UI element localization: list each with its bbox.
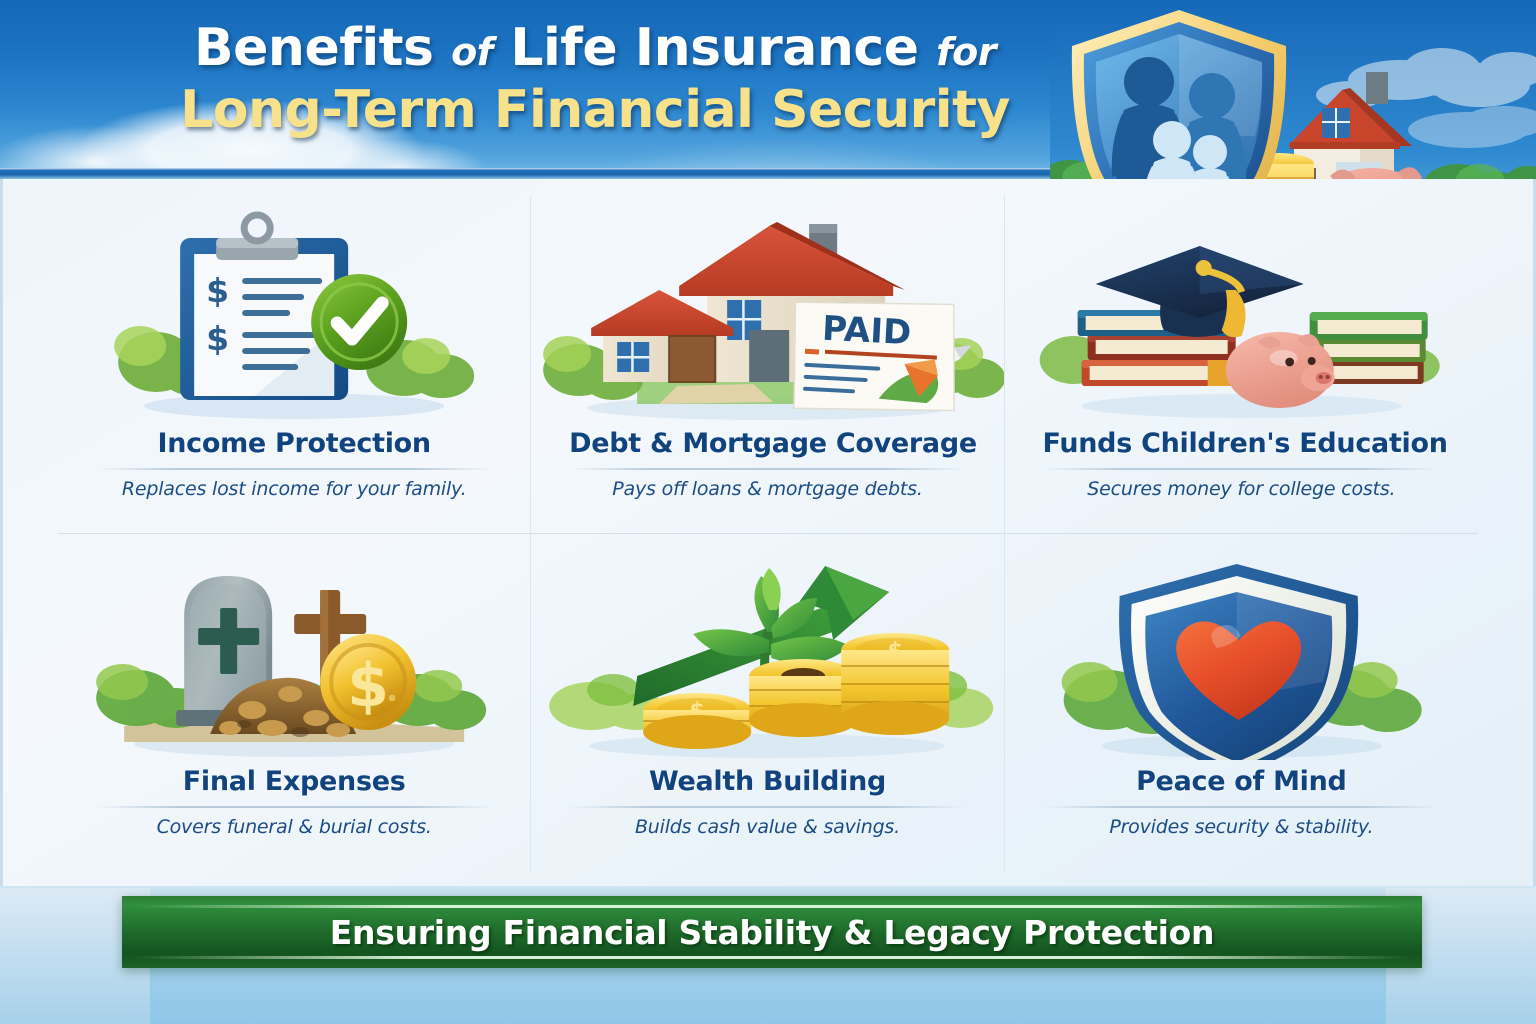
- svg-text:$: $: [206, 319, 229, 358]
- card-divider: [1043, 806, 1441, 808]
- card-title: Wealth Building: [569, 766, 966, 797]
- card-subtitle: Builds cash value & savings.: [569, 816, 966, 838]
- card-subtitle: Pays off loans & mortgage debts.: [569, 478, 966, 500]
- card-caption: Wealth Building Builds cash value & savi…: [569, 766, 966, 838]
- gravestone-cross-gold-coin-icon: $: [58, 548, 530, 760]
- card-divider: [569, 806, 966, 808]
- title-word-benefits: Benefits: [194, 18, 433, 78]
- card-caption: Peace of Mind Provides security & stabil…: [1043, 766, 1441, 838]
- card-caption: Funds Children's Education Secures money…: [1043, 428, 1441, 500]
- card-subtitle: Covers funeral & burial costs.: [96, 816, 493, 838]
- card-subtitle: Provides security & stability.: [1043, 816, 1441, 838]
- benefits-grid: $$: [58, 196, 1478, 872]
- title-word-of: of: [451, 30, 493, 74]
- svg-text:$: $: [206, 271, 229, 310]
- shield-heart-icon: [1005, 548, 1478, 760]
- benefit-card-income-protection[interactable]: $$: [58, 196, 531, 534]
- paid-stamp-text: PAID: [822, 309, 913, 354]
- card-title: Final Expenses: [96, 766, 493, 797]
- footer-tagline: Ensuring Financial Stability & Legacy Pr…: [122, 896, 1422, 968]
- card-caption: Debt & Mortgage Coverage Pays off loans …: [569, 428, 966, 500]
- footer-banner: Ensuring Financial Stability & Legacy Pr…: [122, 896, 1422, 968]
- benefit-card-wealth-building[interactable]: $: [531, 534, 1004, 872]
- card-title: Peace of Mind: [1043, 766, 1441, 797]
- card-title: Income Protection: [96, 428, 493, 459]
- card-caption: Final Expenses Covers funeral & burial c…: [96, 766, 493, 838]
- card-title: Funds Children's Education: [1043, 428, 1441, 459]
- svg-text:$: $: [347, 651, 389, 721]
- benefit-card-peace-of-mind[interactable]: Peace of Mind Provides security & stabil…: [1005, 534, 1478, 872]
- poster-title: Benefits of Life Insurance for Long-Term…: [150, 22, 1040, 136]
- card-title: Debt & Mortgage Coverage: [569, 428, 966, 459]
- card-divider: [96, 468, 493, 470]
- card-divider: [1043, 468, 1441, 470]
- card-subtitle: Replaces lost income for your family.: [96, 478, 493, 500]
- clipboard-dollar-checkmark-icon: $$: [58, 210, 530, 422]
- title-word-for: for: [936, 30, 996, 74]
- card-subtitle: Secures money for college costs.: [1043, 478, 1441, 500]
- title-subtitle-line: Long-Term Financial Security: [150, 84, 1040, 136]
- card-divider: [96, 806, 493, 808]
- benefit-card-final-expenses[interactable]: $ Final Expenses Covers funeral & burial…: [58, 534, 531, 872]
- title-word-life-insurance: Life Insurance: [510, 18, 918, 78]
- coin-stacks-plant-growth-arrow-icon: $: [531, 548, 1003, 760]
- house-paid-document-icon: PAID: [531, 210, 1003, 422]
- benefit-card-funds-childrens-education[interactable]: Funds Children's Education Secures money…: [1005, 196, 1478, 534]
- card-caption: Income Protection Replaces lost income f…: [96, 428, 493, 500]
- benefit-card-debt-mortgage-coverage[interactable]: PAID: [531, 196, 1004, 534]
- graduation-cap-books-piggybank-icon: [1005, 210, 1478, 422]
- infographic-poster: Benefits of Life Insurance for Long-Term…: [0, 0, 1536, 1024]
- card-divider: [569, 468, 966, 470]
